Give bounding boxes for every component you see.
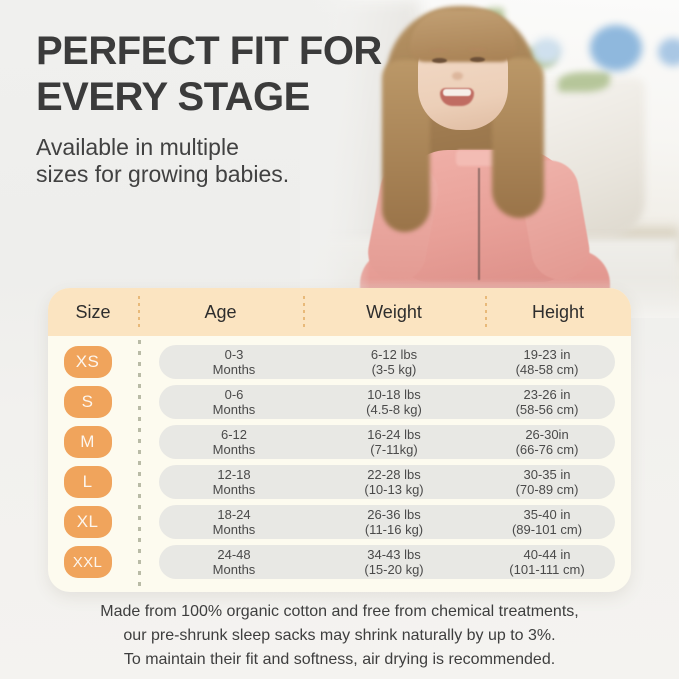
page-title-line2: EVERY STAGE — [36, 75, 310, 119]
care-instructions: Made from 100% organic cotton and free f… — [0, 600, 679, 672]
child-eyebrow — [468, 48, 486, 51]
row-values-pill: 18-24 Months 26-36 lbs (11-16 kg) 35-40 … — [159, 505, 615, 539]
sleep-sack-zipper — [478, 168, 480, 280]
column-header-height: Height — [485, 302, 631, 323]
height-value-line2: (70-89 cm) — [479, 482, 615, 497]
age-cell: 0-6 Months — [159, 387, 309, 417]
infographic-page: PERFECT FIT FOR EVERY STAGE Available in… — [0, 0, 679, 679]
height-cell: 30-35 in (70-89 cm) — [479, 467, 615, 497]
height-value-line2: (58-56 cm) — [479, 402, 615, 417]
child-nose — [452, 72, 463, 80]
age-value-line2: Months — [159, 402, 309, 417]
size-badge: XL — [64, 506, 112, 538]
age-cell: 18-24 Months — [159, 507, 309, 537]
child-eye — [470, 57, 485, 62]
age-value-line1: 18-24 — [217, 507, 250, 522]
height-value-line2: (66-76 cm) — [479, 442, 615, 457]
weight-value-line2: (7-11kg) — [309, 442, 479, 457]
age-cell: 0-3 Months — [159, 347, 309, 377]
row-values-pill: 12-18 Months 22-28 lbs (10-13 kg) 30-35 … — [159, 465, 615, 499]
age-value-line2: Months — [159, 362, 309, 377]
column-header-weight: Weight — [303, 302, 485, 323]
age-value-line2: Months — [159, 482, 309, 497]
height-cell: 19-23 in (48-58 cm) — [479, 347, 615, 377]
page-title-line1: PERFECT FIT FOR — [36, 29, 382, 73]
body-divider-dotted — [138, 340, 141, 586]
age-value-line2: Months — [159, 522, 309, 537]
size-cell: M — [48, 426, 127, 458]
weight-value-line1: 26-36 lbs — [367, 507, 420, 522]
page-subtitle-line2: sizes for growing babies. — [36, 161, 289, 187]
weight-value-line2: (15-20 kg) — [309, 562, 479, 577]
table-row: XS 0-3 Months 6-12 lbs (3-5 kg) 19-23 in… — [48, 344, 631, 380]
weight-cell: 34-43 lbs (15-20 kg) — [309, 547, 479, 577]
height-value-line2: (48-58 cm) — [479, 362, 615, 377]
age-value-line1: 0-6 — [225, 387, 244, 402]
child-teeth — [443, 89, 471, 96]
page-title: PERFECT FIT FOR EVERY STAGE — [36, 28, 436, 120]
age-cell: 6-12 Months — [159, 427, 309, 457]
weight-value-line2: (10-13 kg) — [309, 482, 479, 497]
height-value-line1: 35-40 in — [524, 507, 571, 522]
size-badge: S — [64, 386, 112, 418]
row-values-pill: 0-6 Months 10-18 lbs (4.5-8 kg) 23-26 in… — [159, 385, 615, 419]
height-value-line2: (89-101 cm) — [479, 522, 615, 537]
size-cell: XXL — [48, 546, 127, 578]
age-cell: 24-48 Months — [159, 547, 309, 577]
table-header-row: Size Age Weight Height — [48, 288, 631, 336]
column-header-size: Size — [48, 302, 138, 323]
weight-cell: 16-24 lbs (7-11kg) — [309, 427, 479, 457]
height-value-line1: 19-23 in — [524, 347, 571, 362]
size-cell: S — [48, 386, 127, 418]
table-row: M 6-12 Months 16-24 lbs (7-11kg) 26-30in… — [48, 424, 631, 460]
size-badge: L — [64, 466, 112, 498]
header-divider-dotted — [303, 296, 305, 328]
weight-value-line2: (3-5 kg) — [309, 362, 479, 377]
height-cell: 26-30in (66-76 cm) — [479, 427, 615, 457]
weight-value-line1: 34-43 lbs — [367, 547, 420, 562]
age-value-line1: 0-3 — [225, 347, 244, 362]
weight-value-line1: 6-12 lbs — [371, 347, 417, 362]
table-row: L 12-18 Months 22-28 lbs (10-13 kg) 30-3… — [48, 464, 631, 500]
height-cell: 35-40 in (89-101 cm) — [479, 507, 615, 537]
height-value-line1: 40-44 in — [524, 547, 571, 562]
age-value-line1: 24-48 — [217, 547, 250, 562]
weight-cell: 10-18 lbs (4.5-8 kg) — [309, 387, 479, 417]
height-value-line1: 26-30in — [525, 427, 568, 442]
size-badge: M — [64, 426, 112, 458]
weight-cell: 22-28 lbs (10-13 kg) — [309, 467, 479, 497]
header-divider-dotted — [485, 296, 487, 328]
column-header-age: Age — [138, 302, 303, 323]
weight-value-line2: (4.5-8 kg) — [309, 402, 479, 417]
weight-value-line1: 22-28 lbs — [367, 467, 420, 482]
height-value-line1: 30-35 in — [524, 467, 571, 482]
row-values-pill: 6-12 Months 16-24 lbs (7-11kg) 26-30in (… — [159, 425, 615, 459]
size-badge: XS — [64, 346, 112, 378]
age-cell: 12-18 Months — [159, 467, 309, 497]
care-line-3: To maintain their fit and softness, air … — [0, 648, 679, 672]
row-values-pill: 0-3 Months 6-12 lbs (3-5 kg) 19-23 in (4… — [159, 345, 615, 379]
height-value-line1: 23-26 in — [524, 387, 571, 402]
table-row: XXL 24-48 Months 34-43 lbs (15-20 kg) 40… — [48, 544, 631, 580]
page-subtitle: Available in multiple sizes for growing … — [36, 134, 436, 188]
size-badge: XXL — [64, 546, 112, 578]
table-row: S 0-6 Months 10-18 lbs (4.5-8 kg) 23-26 … — [48, 384, 631, 420]
care-line-2: our pre-shrunk sleep sacks may shrink na… — [0, 624, 679, 648]
age-value-line2: Months — [159, 562, 309, 577]
age-value-line1: 12-18 — [217, 467, 250, 482]
weight-cell: 26-36 lbs (11-16 kg) — [309, 507, 479, 537]
row-values-pill: 24-48 Months 34-43 lbs (15-20 kg) 40-44 … — [159, 545, 615, 579]
height-cell: 40-44 in (101-111 cm) — [479, 547, 615, 577]
header-divider-dotted — [138, 296, 140, 328]
height-cell: 23-26 in (58-56 cm) — [479, 387, 615, 417]
weight-value-line2: (11-16 kg) — [309, 522, 479, 537]
weight-cell: 6-12 lbs (3-5 kg) — [309, 347, 479, 377]
size-cell: XS — [48, 346, 127, 378]
table-row: XL 18-24 Months 26-36 lbs (11-16 kg) 35-… — [48, 504, 631, 540]
page-subtitle-line1: Available in multiple — [36, 134, 239, 160]
heading-block: PERFECT FIT FOR EVERY STAGE Available in… — [36, 28, 436, 188]
care-line-1: Made from 100% organic cotton and free f… — [0, 600, 679, 624]
size-chart-card: Size Age Weight Height XS 0-3 Months — [48, 288, 631, 592]
size-cell: XL — [48, 506, 127, 538]
weight-value-line1: 10-18 lbs — [367, 387, 420, 402]
weight-value-line1: 16-24 lbs — [367, 427, 420, 442]
age-value-line1: 6-12 — [221, 427, 247, 442]
table-body: XS 0-3 Months 6-12 lbs (3-5 kg) 19-23 in… — [48, 336, 631, 592]
size-cell: L — [48, 466, 127, 498]
height-value-line2: (101-111 cm) — [479, 562, 615, 577]
age-value-line2: Months — [159, 442, 309, 457]
